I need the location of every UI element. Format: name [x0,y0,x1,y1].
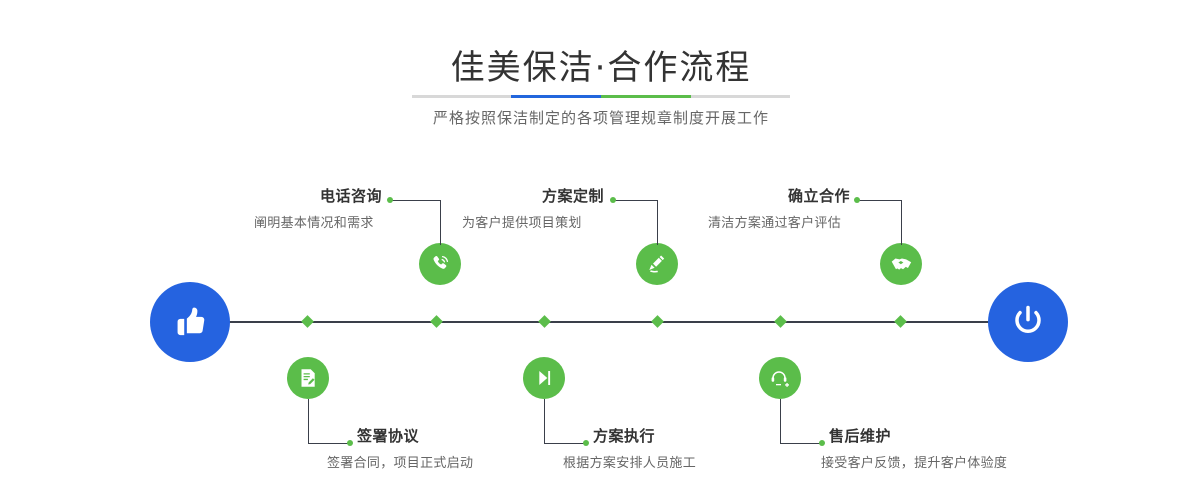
step-label-2: 签署协议 签署合同，项目正式启动 [357,425,473,471]
step-icon-3 [636,243,678,285]
divider-segment-green [601,95,691,98]
start-endpoint [150,282,230,362]
step-icon-5 [880,243,922,285]
connector-vertical-3 [657,200,658,245]
step-label-1: 电话咨询 阐明基本情况和需求 [254,185,382,231]
step-desc-4: 根据方案安排人员施工 [563,452,696,471]
step-label-5: 确立合作 清洁方案通过客户评估 [708,185,850,231]
customer-support-icon [768,366,792,390]
step-desc-6: 接受客户反馈，提升客户体验度 [821,452,1007,471]
connector-horizontal-2 [308,443,350,444]
step-title-5: 确立合作 [708,185,850,206]
pen-ruler-icon [645,252,669,276]
step-desc-5: 清洁方案通过客户评估 [708,212,850,231]
connector-horizontal-5 [857,200,901,201]
flow-diagram: 佳美保洁·合作流程 严格按照保洁制定的各项管理规章制度开展工作 电话咨 [0,0,1202,502]
phone-call-icon [428,252,452,276]
connector-vertical-6 [780,399,781,443]
connector-dot-3 [610,197,616,203]
power-icon [1008,302,1048,342]
step-title-3: 方案定制 [462,185,604,206]
play-forward-icon [532,366,556,390]
step-label-6: 售后维护 接受客户反馈，提升客户体验度 [829,425,1007,471]
title-divider [412,95,790,98]
connector-vertical-5 [901,200,902,245]
connector-horizontal-1 [390,200,440,201]
connector-dot-4 [583,440,589,446]
page-subtitle: 严格按照保洁制定的各项管理规章制度开展工作 [0,107,1202,128]
connector-dot-6 [819,440,825,446]
timeline-axis [196,321,1002,323]
connector-dot-1 [387,197,393,203]
axis-node-dot [301,315,314,328]
step-icon-6 [759,357,801,399]
axis-node-dot [894,315,907,328]
connector-vertical-2 [308,399,309,443]
step-title-6: 售后维护 [829,425,1007,446]
connector-dot-2 [347,440,353,446]
step-title-1: 电话咨询 [254,185,382,206]
step-desc-1: 阐明基本情况和需求 [254,212,382,231]
step-icon-2 [287,357,329,399]
end-endpoint [988,282,1068,362]
step-title-2: 签署协议 [357,425,473,446]
connector-horizontal-6 [780,443,822,444]
axis-node-dot [538,315,551,328]
step-desc-2: 签署合同，项目正式启动 [327,452,473,471]
step-title-4: 方案执行 [593,425,696,446]
axis-node-dot [651,315,664,328]
thumbs-up-icon [169,301,211,343]
connector-horizontal-3 [613,200,657,201]
step-icon-1 [419,243,461,285]
divider-segment-blue [511,95,601,98]
handshake-icon [889,252,914,277]
page-title: 佳美保洁·合作流程 [0,40,1202,89]
axis-node-dot [430,315,443,328]
connector-vertical-1 [440,200,441,245]
document-edit-icon [296,366,320,390]
connector-dot-5 [854,197,860,203]
step-label-3: 方案定制 为客户提供项目策划 [462,185,604,231]
step-label-4: 方案执行 根据方案安排人员施工 [593,425,696,471]
axis-node-dot [774,315,787,328]
step-icon-4 [523,357,565,399]
step-desc-3: 为客户提供项目策划 [462,212,604,231]
connector-horizontal-4 [544,443,586,444]
connector-vertical-4 [544,399,545,443]
